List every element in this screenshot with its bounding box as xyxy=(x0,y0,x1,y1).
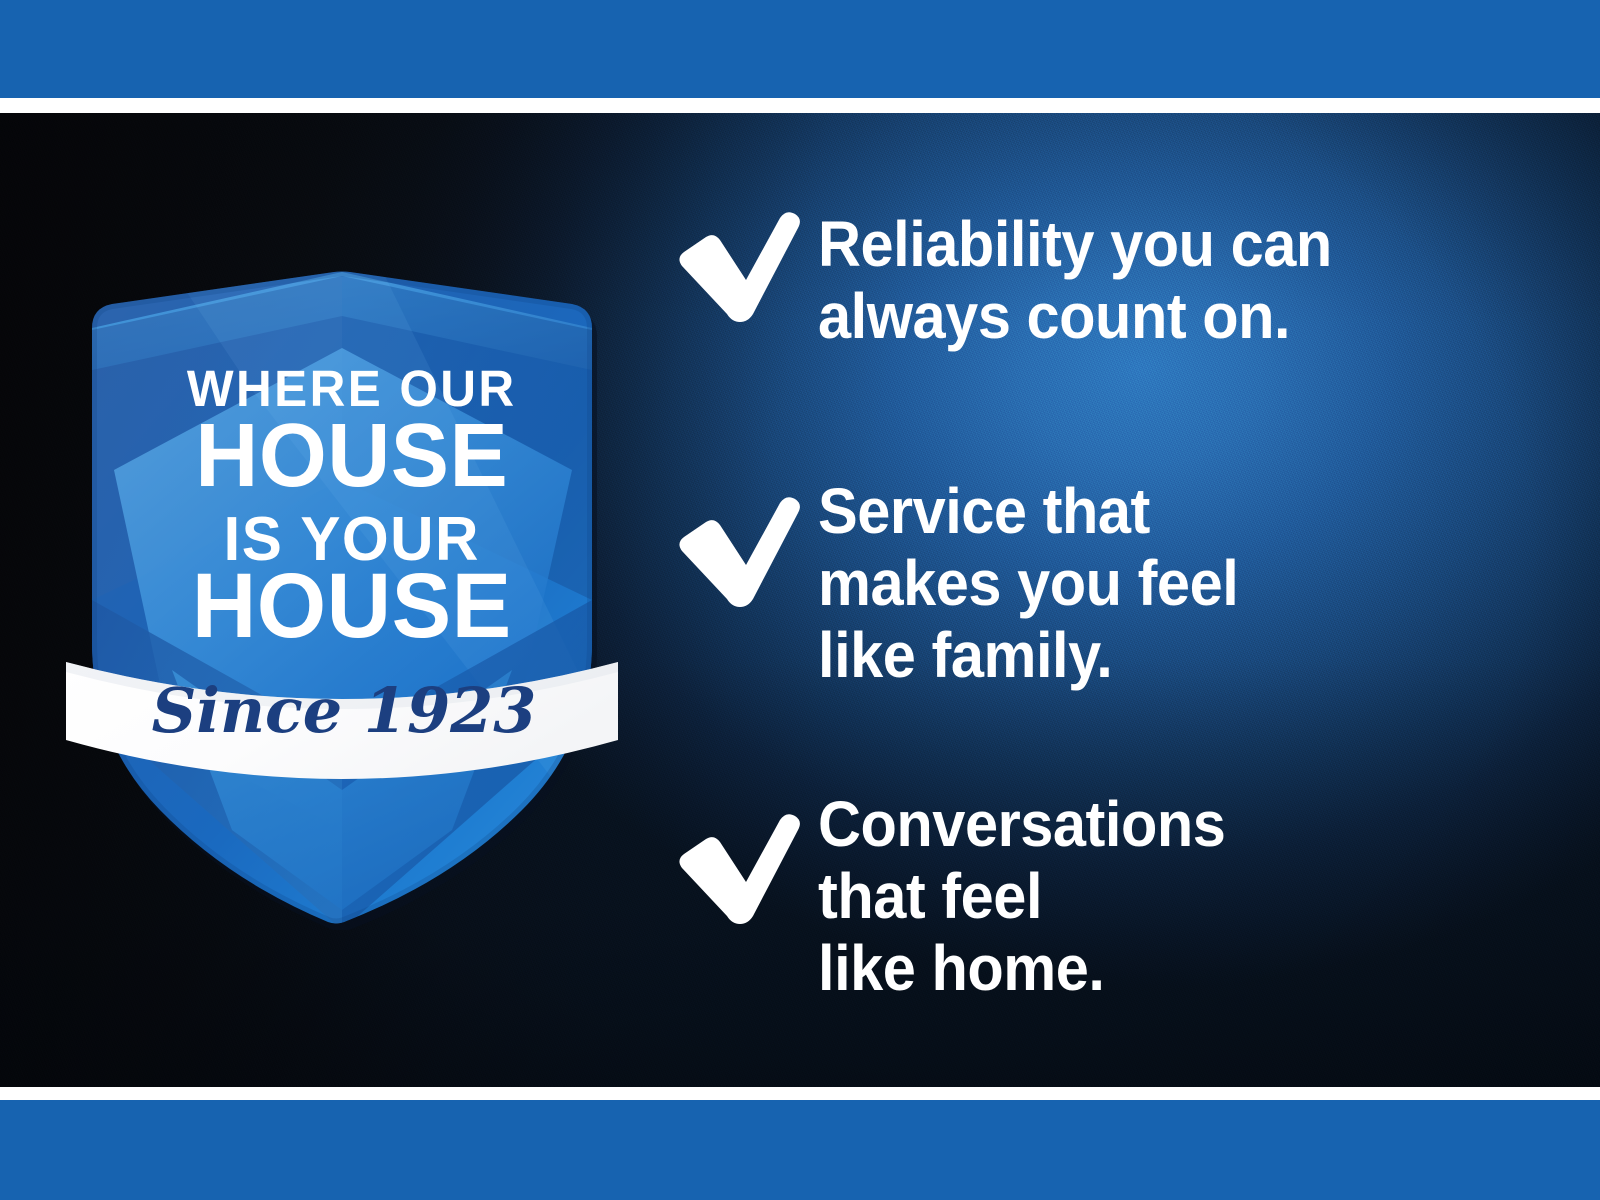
checkmark-icon xyxy=(668,196,818,322)
benefit-item: Conversations that feel like home. xyxy=(668,788,1528,1005)
shield-line-2: HOUSE xyxy=(195,405,508,505)
checkmark-icon xyxy=(668,475,818,607)
benefit-list: Reliability you can always count on. Ser… xyxy=(668,196,1528,1005)
benefit-item: Reliability you can always count on. xyxy=(668,196,1528,353)
benefit-item: Service that makes you feel like family. xyxy=(668,475,1528,692)
benefit-text: Conversations that feel like home. xyxy=(818,788,1478,1005)
top-accent-bar xyxy=(0,0,1600,98)
since-banner-text: Since 1923 xyxy=(152,674,537,747)
shield-logo: WHERE OUR HOUSE IS YOUR HOUSE Since 1923 xyxy=(52,270,632,930)
benefit-text: Service that makes you feel like family. xyxy=(818,475,1478,692)
bottom-accent-bar xyxy=(0,1100,1600,1200)
checkmark-icon xyxy=(668,788,818,924)
shield-line-4: HOUSE xyxy=(192,555,512,658)
benefit-text: Reliability you can always count on. xyxy=(818,196,1478,353)
promo-graphic: WHERE OUR HOUSE IS YOUR HOUSE Since 1923… xyxy=(0,0,1600,1200)
